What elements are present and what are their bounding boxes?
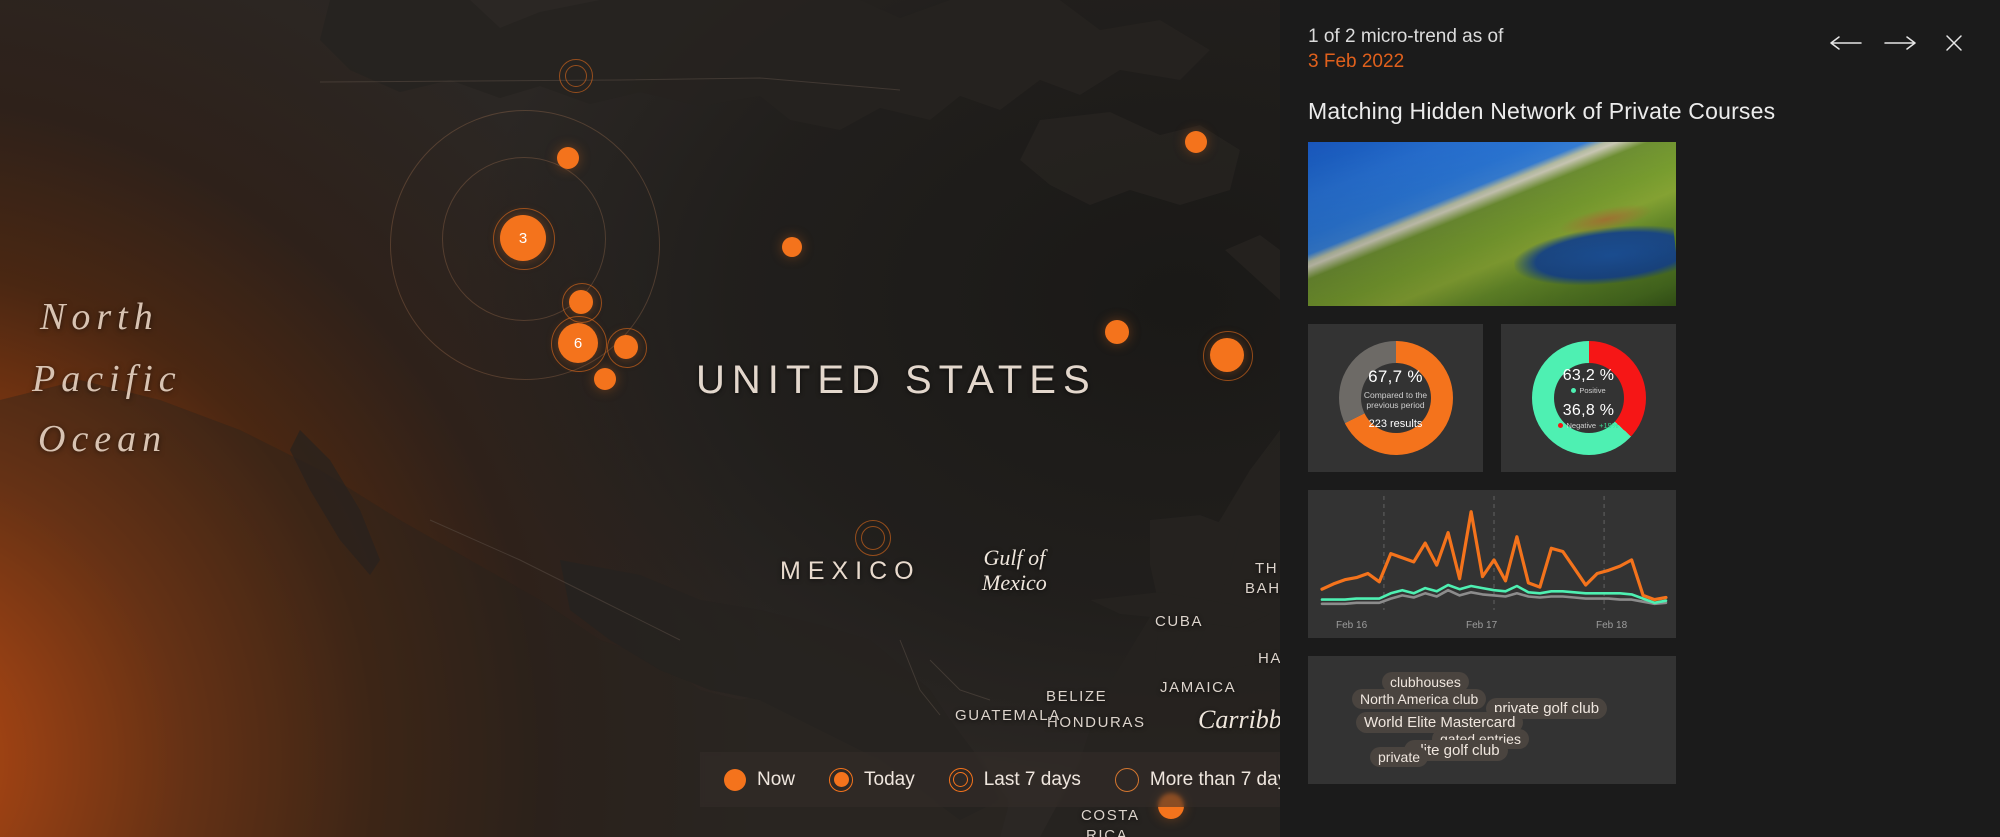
- map-label-baha: BAHA: [1245, 580, 1280, 597]
- gulf-line-2: Mexico: [982, 570, 1047, 595]
- map-label-th: TH: [1255, 560, 1278, 577]
- negative-delta: +19%: [1599, 421, 1618, 430]
- marker-ring-outer-11: [855, 520, 891, 556]
- volume-donut-center: 67,7 % Compared to the previous period 2…: [1361, 363, 1431, 433]
- arrow-right-icon[interactable]: [1882, 30, 1918, 56]
- marker-ring-outer-0: [559, 59, 593, 93]
- legend-dot-more-icon: [1115, 768, 1139, 792]
- volume-donut-card[interactable]: 67,7 % Compared to the previous period 2…: [1308, 324, 1483, 472]
- chart-xtick-1: Feb 17: [1466, 620, 1497, 631]
- negative-label: Negative: [1566, 421, 1596, 430]
- country-label-mexico: MEXICO: [780, 557, 921, 586]
- legend-label-more-than-7-days: More than 7 days ago: [1150, 769, 1280, 791]
- map-label-belize: BELIZE: [1046, 688, 1107, 705]
- map-marker-1[interactable]: [557, 147, 579, 169]
- map-marker-7[interactable]: [614, 335, 638, 359]
- ocean-label-line-3: Ocean: [38, 417, 167, 461]
- map-label-guatemala: GUATEMALA: [955, 707, 1061, 724]
- map-marker-3[interactable]: [782, 237, 802, 257]
- map-marker-9[interactable]: [1105, 320, 1129, 344]
- chart-xtick-0: Feb 16: [1336, 620, 1367, 631]
- map-marker-cluster-6[interactable]: 6: [558, 323, 598, 363]
- map-marker-5[interactable]: [569, 290, 593, 314]
- map-marker-8[interactable]: [594, 368, 616, 390]
- micro-trend-panel: 1 of 2 micro-trend as of 3 Feb 2022 Matc…: [1280, 0, 2000, 837]
- volume-caption-line-2: previous period: [1364, 400, 1427, 411]
- tag-private[interactable]: private: [1370, 747, 1428, 767]
- legend-dot-now-icon: [724, 769, 746, 791]
- country-label-united-states: UNITED STATES: [696, 358, 1097, 403]
- sentiment-donut-center: 63,2 % Positive 36,8 % Negative +19%: [1554, 363, 1624, 433]
- positive-percent: 63,2 %: [1563, 367, 1615, 385]
- volume-caption-line-1: Compared to the: [1364, 390, 1427, 401]
- photo-layer-shade: [1308, 142, 1676, 306]
- ocean-label-line-2: Pacific: [32, 357, 182, 401]
- negative-percent: 36,8 %: [1563, 402, 1615, 420]
- metric-cards: 67,7 % Compared to the previous period 2…: [1308, 324, 1972, 472]
- map-label-honduras: HONDURAS: [1047, 714, 1146, 731]
- map-label-rica: RICA: [1086, 827, 1128, 837]
- map-marker-cluster-3[interactable]: 3: [500, 215, 546, 261]
- volume-percent: 67,7 %: [1368, 367, 1423, 387]
- positive-legend: Positive: [1571, 386, 1605, 395]
- map-canvas[interactable]: North Pacific Ocean UNITED STATES MEXICO…: [0, 0, 1280, 837]
- trend-photo[interactable]: [1308, 142, 1676, 306]
- tag-north-america-club[interactable]: North America club: [1352, 689, 1486, 709]
- arrow-left-icon[interactable]: [1828, 30, 1864, 56]
- sea-label-gulf-of-mexico: Gulf of Mexico: [982, 545, 1047, 596]
- sea-label-caribbean: Carribbean: [1198, 705, 1280, 735]
- trend-date: 3 Feb 2022: [1308, 51, 1404, 72]
- trend-line-chart: [1308, 490, 1676, 638]
- negative-legend: Negative +19%: [1558, 421, 1618, 430]
- chart-xtick-2: Feb 18: [1596, 620, 1627, 631]
- volume-caption: Compared to the previous period: [1364, 390, 1427, 411]
- sentiment-donut-card[interactable]: 63,2 % Positive 36,8 % Negative +19%: [1501, 324, 1676, 472]
- legend-dot-last7-icon: [949, 768, 973, 792]
- map-label-jamaica: JAMAICA: [1160, 679, 1236, 696]
- legend-item-now[interactable]: Now: [724, 769, 795, 791]
- time-legend[interactable]: Now Today Last 7 days More than 7 days a…: [700, 752, 1280, 807]
- legend-item-last-7-days[interactable]: Last 7 days: [949, 768, 1081, 792]
- panel-header: 1 of 2 micro-trend as of 3 Feb 2022: [1308, 24, 1972, 75]
- volume-donut: 67,7 % Compared to the previous period 2…: [1339, 341, 1453, 455]
- map-marker-4[interactable]: [1185, 131, 1207, 153]
- panel-meta: 1 of 2 micro-trend as of 3 Feb 2022: [1308, 24, 1503, 75]
- legend-label-today: Today: [864, 769, 915, 791]
- map-marker-10[interactable]: [1210, 338, 1244, 372]
- ocean-label-line-1: North: [40, 295, 159, 339]
- legend-label-now: Now: [757, 769, 795, 791]
- map-label-ha: HA: [1258, 650, 1280, 667]
- close-icon[interactable]: [1936, 30, 1972, 56]
- positive-label: Positive: [1579, 386, 1605, 395]
- legend-label-last-7-days: Last 7 days: [984, 769, 1081, 791]
- legend-item-today[interactable]: Today: [829, 768, 915, 792]
- legend-item-more-than-7-days[interactable]: More than 7 days ago: [1115, 768, 1280, 792]
- micro-trend-map-app: North Pacific Ocean UNITED STATES MEXICO…: [0, 0, 2000, 837]
- trend-title: Matching Hidden Network of Private Cours…: [1308, 97, 1972, 127]
- tag-cloud-card[interactable]: clubhousesNorth America clubprivate golf…: [1308, 656, 1676, 784]
- negative-pill-icon: [1558, 423, 1563, 428]
- map-label-cuba: CUBA: [1155, 613, 1203, 630]
- trend-counter-text: 1 of 2 micro-trend as of: [1308, 26, 1503, 47]
- gulf-line-1: Gulf of: [982, 545, 1047, 570]
- panel-nav-buttons[interactable]: [1828, 30, 1972, 56]
- positive-pill-icon: [1571, 388, 1576, 393]
- map-landmass: [0, 0, 1280, 837]
- legend-dot-today-icon: [829, 768, 853, 792]
- trend-line-chart-card[interactable]: Feb 16 Feb 17 Feb 18: [1308, 490, 1676, 638]
- sentiment-donut: 63,2 % Positive 36,8 % Negative +19%: [1532, 341, 1646, 455]
- map-label-costa: COSTA: [1081, 807, 1140, 824]
- volume-results: 223 results: [1369, 418, 1423, 430]
